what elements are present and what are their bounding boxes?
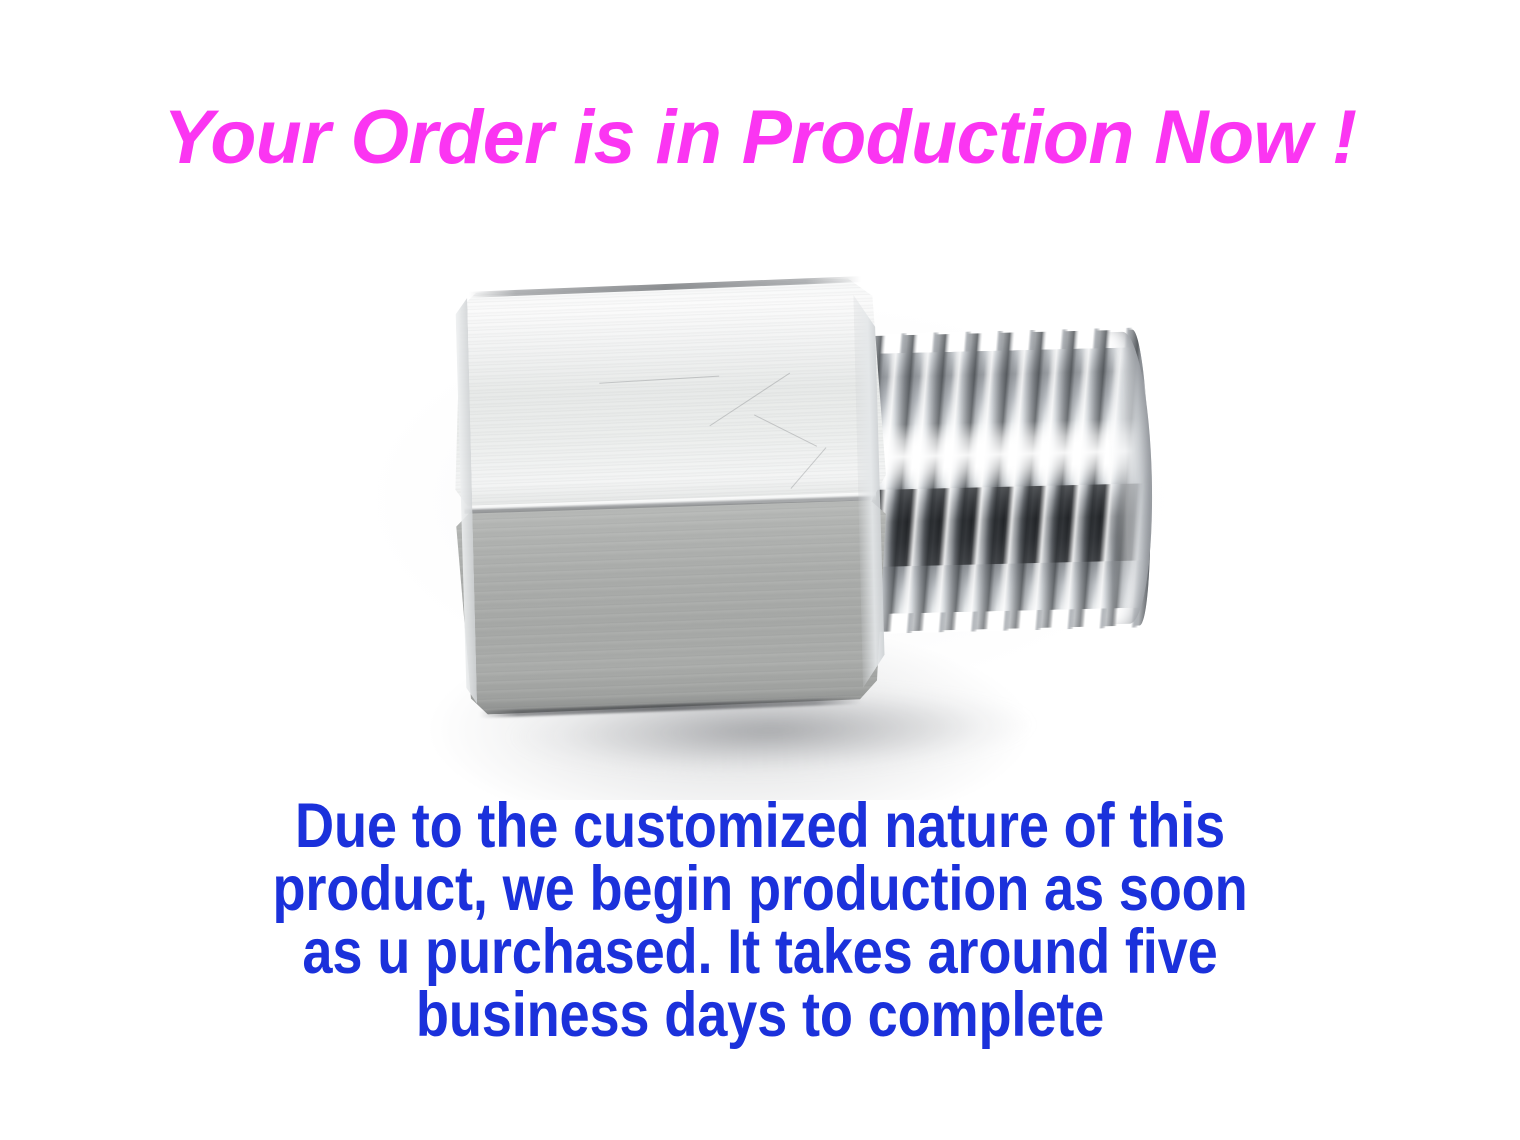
thread-grooves-shadowed [862, 483, 1152, 567]
page-title: Your Order is in Production Now ! [8, 98, 1513, 178]
notice-line: Due to the customized nature of this [106, 795, 1413, 858]
production-notice-text: Due to the customized nature of this pro… [0, 795, 1520, 1047]
product-photo [0, 200, 1520, 800]
male-threaded-nipple [858, 329, 1153, 632]
notice-line: product, we begin production as soon [106, 858, 1413, 921]
hex-top-brushed-texture [447, 278, 888, 513]
notice-line: as u purchased. It takes around five [106, 921, 1413, 984]
pipe-adapter-fitting [0, 182, 1520, 819]
hex-bottom-brushed-texture [452, 500, 893, 716]
hex-body [447, 278, 893, 714]
promo-banner: Your Order is in Production Now ! [0, 0, 1520, 1140]
notice-line: business days to complete [106, 984, 1413, 1047]
